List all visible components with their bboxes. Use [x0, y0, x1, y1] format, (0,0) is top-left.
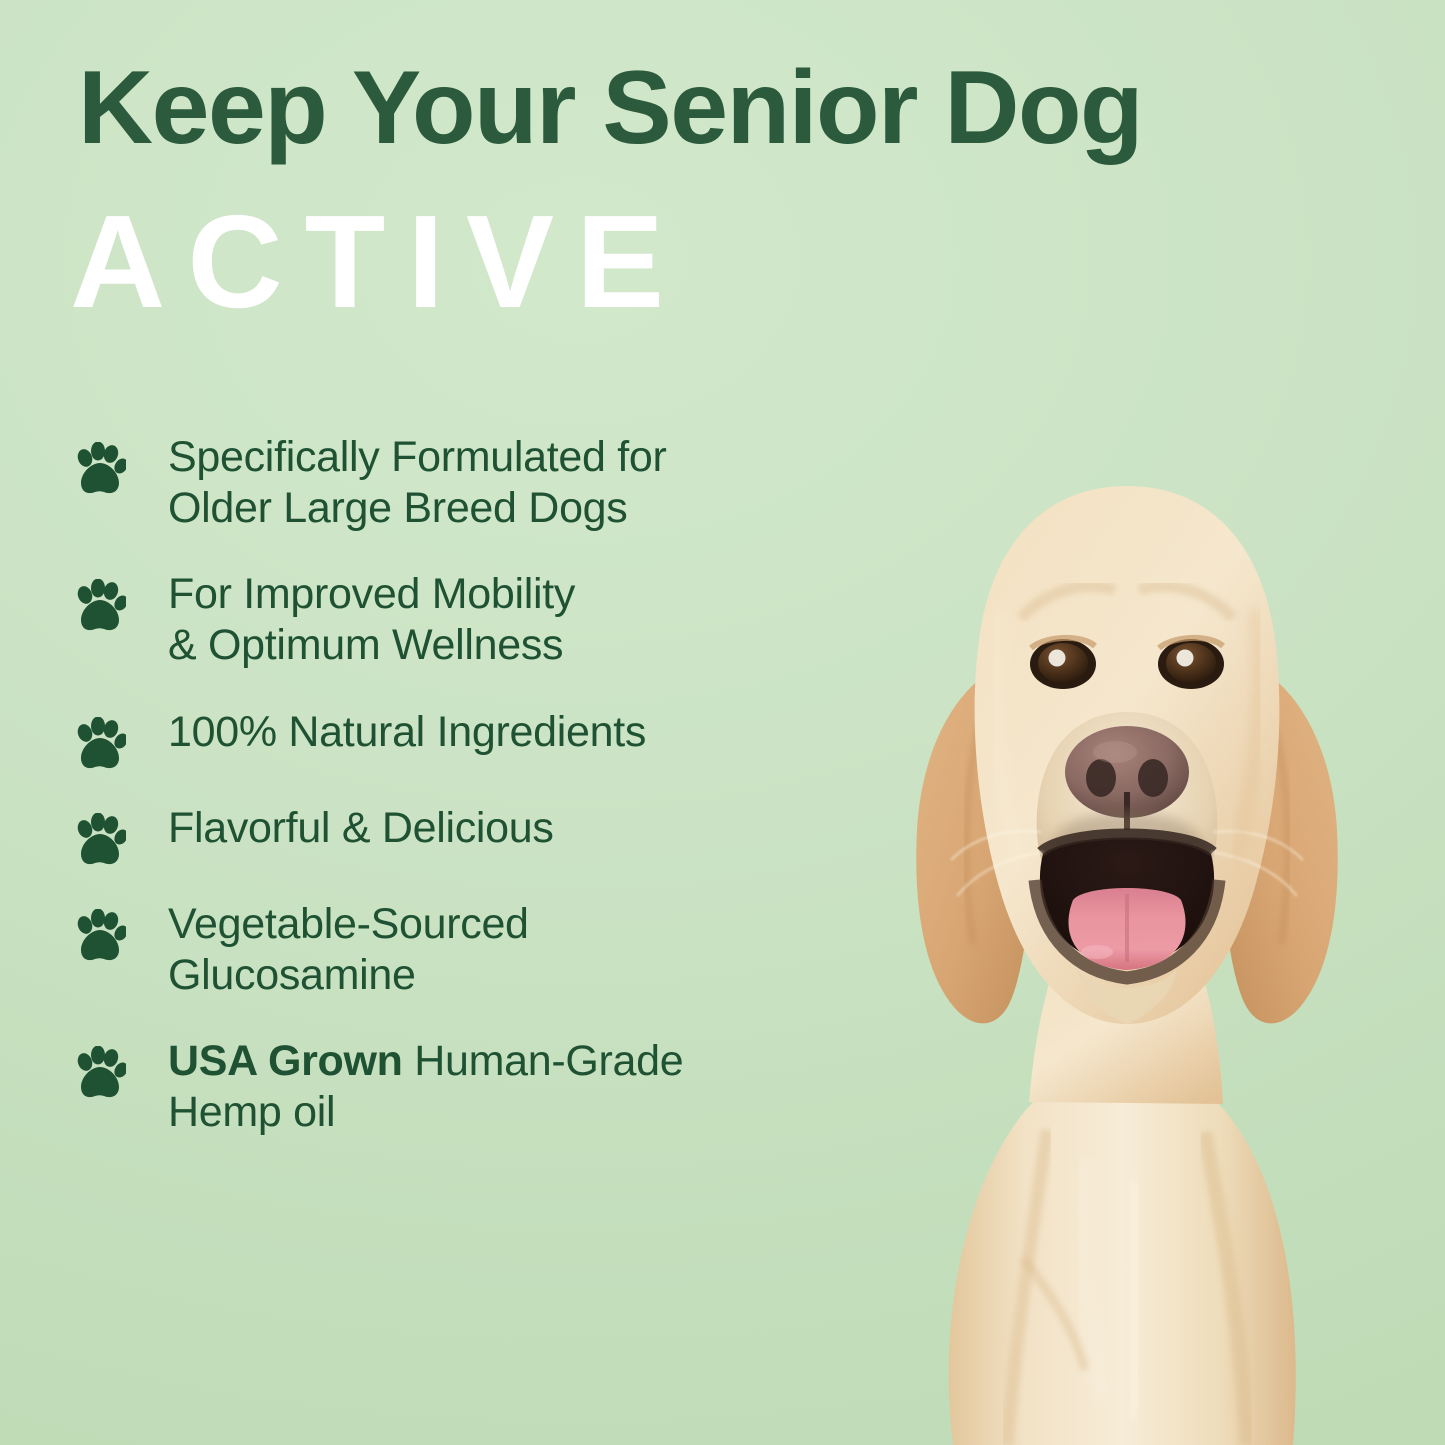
- list-item: Flavorful & Delicious: [74, 803, 814, 869]
- list-item: Specifically Formulated for Older Large …: [74, 432, 814, 533]
- paw-icon: [74, 579, 126, 635]
- list-item: Vegetable-Sourced Glucosamine: [74, 899, 814, 1000]
- list-item-label: 100% Natural Ingredients: [126, 707, 814, 758]
- list-item-label: Specifically Formulated for Older Large …: [126, 432, 814, 533]
- paw-icon: [74, 717, 126, 773]
- product-poster: Keep Your Senior Dog ACTIVE: [0, 0, 1445, 1445]
- list-item: USA Grown Human-Grade Hemp oil: [74, 1036, 814, 1137]
- page-title: Keep Your Senior Dog: [78, 58, 1378, 160]
- list-item-label: Flavorful & Delicious: [126, 803, 814, 854]
- page-subtitle: ACTIVE: [70, 196, 686, 328]
- dog-photo: [785, 360, 1445, 1445]
- paw-icon: [74, 813, 126, 869]
- paw-icon: [74, 442, 126, 498]
- list-item-label: For Improved Mobility & Optimum Wellness: [126, 569, 814, 670]
- labrador-retriever-illustration: [785, 360, 1445, 1445]
- list-item: 100% Natural Ingredients: [74, 707, 814, 773]
- list-item-label: USA Grown Human-Grade Hemp oil: [126, 1036, 814, 1137]
- feature-list: Specifically Formulated for Older Large …: [74, 432, 814, 1174]
- paw-icon: [74, 1046, 126, 1102]
- list-item-label: Vegetable-Sourced Glucosamine: [126, 899, 814, 1000]
- paw-icon: [74, 909, 126, 965]
- list-item: For Improved Mobility & Optimum Wellness: [74, 569, 814, 670]
